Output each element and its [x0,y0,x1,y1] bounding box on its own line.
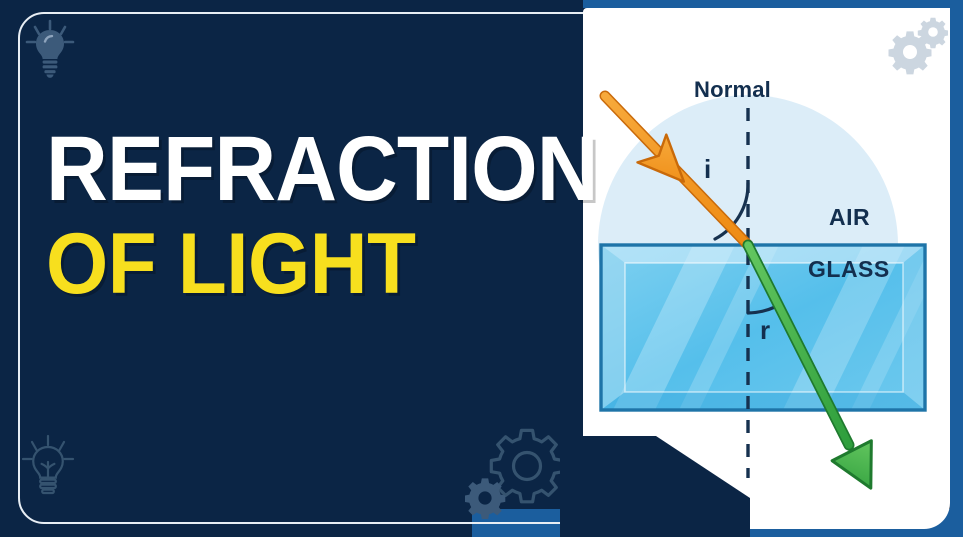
label-angle-of-incidence: i [704,154,711,185]
page-subtitle: OF LIGHT [46,222,539,306]
accent-strip-right [950,0,963,537]
label-angle-of-refraction: r [760,315,770,346]
label-air: AIR [829,204,870,231]
accent-strip-bottom-left [0,509,472,537]
label-glass: GLASS [808,256,890,283]
slide-canvas: REFRACTION OF LIGHT [0,0,963,537]
lightbulb-icon-top-left [22,18,78,83]
accent-strip-top [583,0,963,8]
label-normal: Normal [694,77,771,103]
lightbulb-outline-icon-bottom-left [18,432,78,503]
page-title: REFRACTION [46,126,539,212]
gear-icon-large [491,430,562,501]
title-block: REFRACTION OF LIGHT [46,126,576,307]
